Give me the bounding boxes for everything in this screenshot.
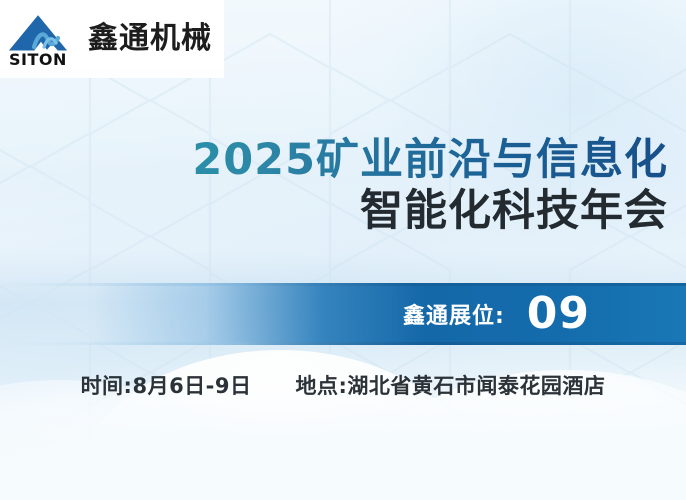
booth-number: 09 [527, 292, 590, 336]
background-bottom-fade [0, 390, 686, 500]
headline-line-1: 2025矿业前沿与信息化 [192, 136, 668, 184]
event-venue: 地点:湖北省黄石市闻泰花园酒店 [296, 370, 606, 400]
booth-banner: 鑫通展位: 09 [0, 283, 686, 345]
logo-latin-text: SITON [9, 50, 67, 68]
mountain-peak-icon: SITON [8, 10, 84, 68]
page-title: 2025矿业前沿与信息化 智能化科技年会 [192, 136, 668, 238]
conference-poster: SITON 鑫通机械 2025矿业前沿与信息化 智能化科技年会 鑫通展位: 09… [0, 0, 686, 500]
booth-label: 鑫通展位: [403, 298, 505, 330]
logo-chinese-text: 鑫通机械 [88, 24, 212, 54]
headline-line-2: 智能化科技年会 [192, 186, 668, 238]
event-meta-row: 时间:8月6日-9日 地点:湖北省黄石市闻泰花园酒店 [0, 370, 686, 400]
brand-logo: SITON 鑫通机械 [0, 0, 224, 78]
event-date: 时间:8月6日-9日 [81, 370, 252, 400]
